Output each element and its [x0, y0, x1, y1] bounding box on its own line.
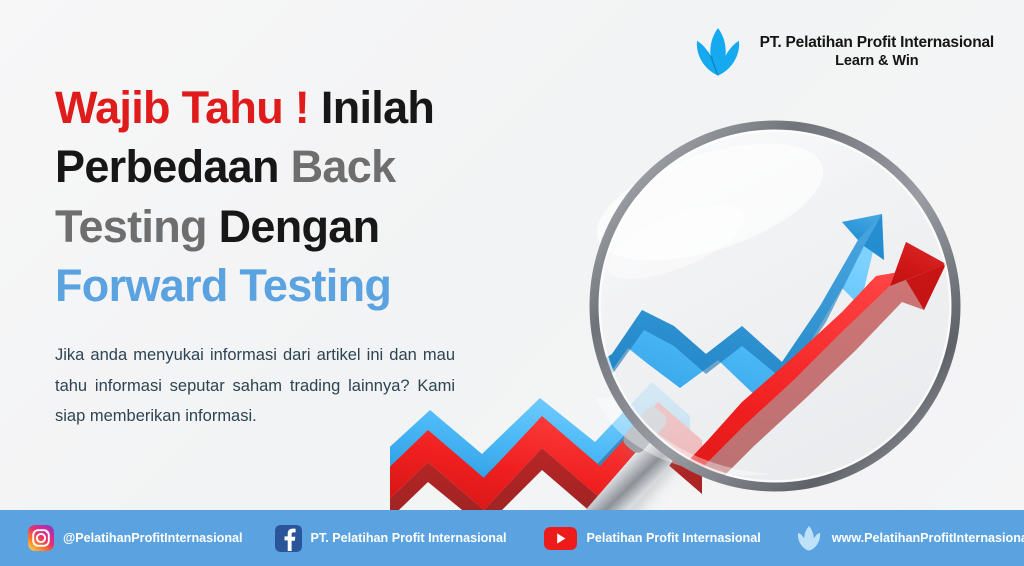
social-label-facebook: PT. Pelatihan Profit Internasional — [311, 531, 507, 545]
headline-black-text-3: Dengan — [219, 201, 380, 252]
company-tagline: Learn & Win — [760, 53, 994, 70]
headline-line-3: Testing Dengan — [55, 197, 535, 256]
headline-gray-text-1: Back — [291, 141, 396, 192]
headline-blue-text: Forward Testing — [55, 260, 391, 311]
social-item-youtube[interactable]: Pelatihan Profit Internasional — [544, 527, 760, 550]
page-title: Wajib Tahu ! Inilah Perbedaan Back Testi… — [55, 78, 535, 316]
social-footer-bar: @PelatihanProfitInternasional PT. Pelati… — [0, 510, 1024, 566]
social-label-youtube: Pelatihan Profit Internasional — [586, 531, 760, 545]
headline-black-text-2: Perbedaan — [55, 141, 279, 192]
body-copy: Jika anda menyukai informasi dari artike… — [55, 340, 455, 432]
lotus-website-icon — [795, 525, 823, 551]
headline-gray-text-2: Testing — [55, 201, 207, 252]
social-label-instagram: @PelatihanProfitInternasional — [63, 531, 243, 545]
facebook-icon — [275, 525, 302, 552]
promotional-banner: PT. Pelatihan Profit Internasional Learn… — [0, 0, 1024, 566]
company-name: PT. Pelatihan Profit Internasional — [760, 34, 994, 52]
headline-line-2: Perbedaan Back — [55, 137, 535, 196]
headline-line-4: Forward Testing — [55, 256, 535, 315]
social-label-website: www.PelatihanProfitInternasional.com — [832, 531, 1024, 545]
instagram-icon — [28, 525, 54, 551]
brand-text: PT. Pelatihan Profit Internasional Learn… — [760, 34, 994, 69]
social-item-facebook[interactable]: PT. Pelatihan Profit Internasional — [275, 525, 507, 552]
social-item-instagram[interactable]: @PelatihanProfitInternasional — [28, 525, 243, 551]
brand-lockup: PT. Pelatihan Profit Internasional Learn… — [690, 26, 994, 78]
social-item-website[interactable]: www.PelatihanProfitInternasional.com — [795, 525, 1024, 551]
youtube-icon — [544, 527, 577, 550]
lotus-icon — [690, 26, 746, 78]
headline-red-text: Wajib Tahu ! — [55, 82, 309, 133]
headline-line-1: Wajib Tahu ! Inilah — [55, 78, 535, 137]
headline-black-text-1: Inilah — [321, 82, 434, 133]
